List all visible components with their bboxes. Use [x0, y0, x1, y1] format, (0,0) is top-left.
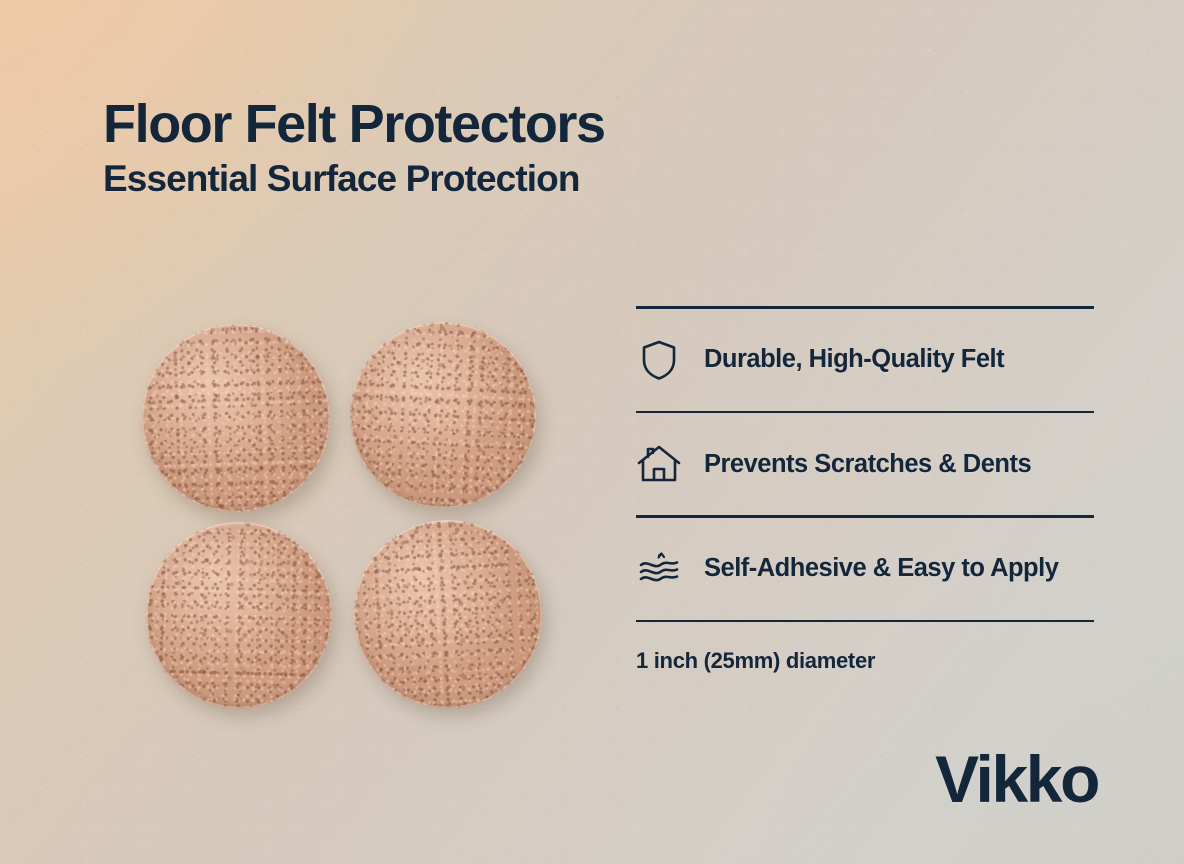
felt-pad-top-right [345, 317, 540, 512]
house-icon [636, 441, 682, 487]
felt-pad-surface [139, 321, 333, 515]
brand-logo: Vikko [935, 746, 1098, 812]
product-infographic: Floor Felt Protectors Essential Surface … [0, 0, 1184, 864]
feature-item-durable: Durable, High-Quality Felt [636, 309, 1094, 411]
felt-pad-surface [144, 520, 335, 711]
dimension-text: 1 inch (25mm) diameter [636, 648, 1094, 674]
feature-divider [636, 620, 1094, 623]
felt-pad-surface [345, 317, 540, 512]
feature-label: Self-Adhesive & Easy to Apply [704, 554, 1058, 583]
page-subtitle: Essential Surface Protection [103, 159, 803, 200]
feature-item-prevents-scratches: Prevents Scratches & Dents [636, 413, 1094, 515]
felt-pad-top-left [139, 321, 333, 515]
page-title: Floor Felt Protectors [103, 96, 803, 153]
adhesive-waves-icon [636, 546, 682, 592]
felt-pad-group [138, 318, 548, 710]
feature-label: Prevents Scratches & Dents [704, 450, 1031, 479]
felt-pad-surface [349, 515, 547, 713]
feature-list: Durable, High-Quality Felt Prevents Scra… [636, 306, 1094, 674]
felt-pad-bottom-left [144, 520, 335, 711]
feature-item-self-adhesive: Self-Adhesive & Easy to Apply [636, 518, 1094, 620]
heading-block: Floor Felt Protectors Essential Surface … [103, 96, 803, 200]
shield-icon [636, 337, 682, 383]
feature-label: Durable, High-Quality Felt [704, 345, 1004, 374]
felt-pad-bottom-right [349, 515, 547, 713]
